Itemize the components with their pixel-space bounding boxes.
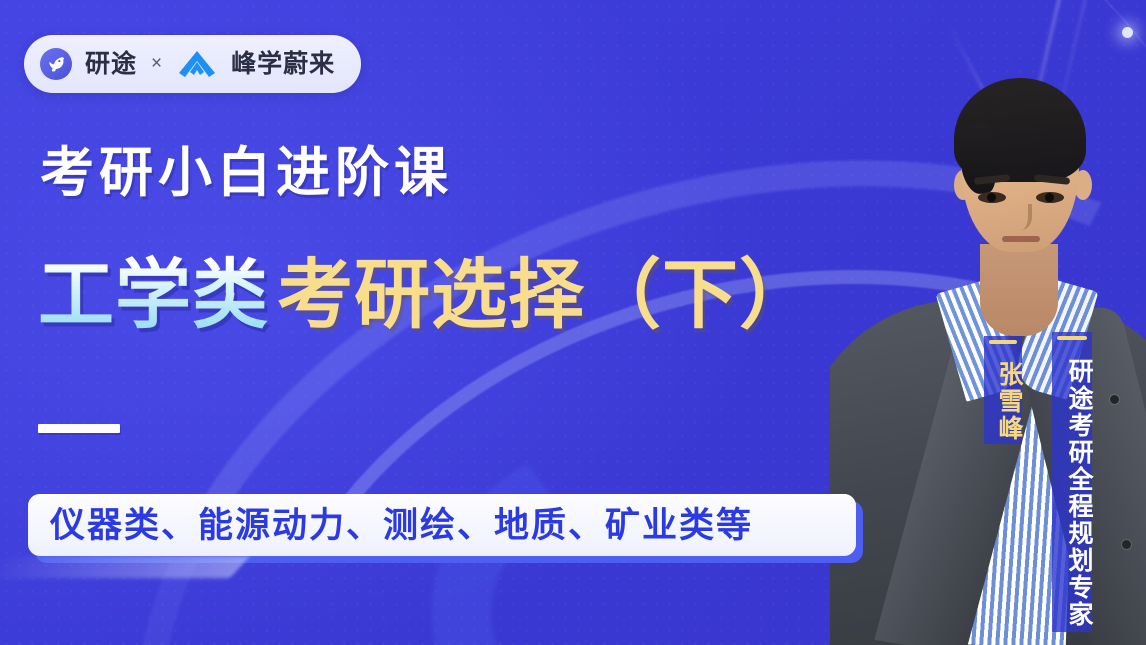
speaker-name-bar: 张雪峰 xyxy=(984,336,1022,444)
nose xyxy=(1010,204,1032,230)
main-headline: 工学类考研选择（下） xyxy=(38,258,816,334)
headline-part-2: 考研选择 xyxy=(277,253,585,338)
speaker-photo xyxy=(830,0,1146,645)
mountain-chevron-logo-icon xyxy=(176,49,218,79)
suit-button-1 xyxy=(1110,395,1119,404)
neck xyxy=(980,244,1058,336)
speaker-role: 研途考研全程规划专家 xyxy=(1066,358,1092,628)
brand-separator: × xyxy=(150,53,163,75)
hair xyxy=(954,78,1086,182)
brand-left-label: 研途 xyxy=(85,52,137,77)
unicorn-circle-logo-icon xyxy=(40,48,72,80)
divider-rule xyxy=(38,424,120,433)
bottom-light-wedge xyxy=(0,556,250,578)
course-poster: 张雪峰 研途考研全程规划专家 研途 × 峰学蔚来 考研小白进阶课 工学类考研选择… xyxy=(0,0,1146,645)
brand-right-label: 峰学蔚来 xyxy=(231,52,335,77)
brand-pill[interactable]: 研途 × 峰学蔚来 xyxy=(24,35,361,93)
headline-part-1: 工学类 xyxy=(38,253,277,338)
kicker-title: 考研小白进阶课 xyxy=(40,146,453,200)
accent-line-name xyxy=(989,340,1017,344)
speaker-name: 张雪峰 xyxy=(996,361,1022,442)
mouth xyxy=(1002,236,1040,242)
eye-right xyxy=(1036,192,1064,203)
speaker-role-bar: 研途考研全程规划专家 xyxy=(1052,332,1092,632)
suit-button-2 xyxy=(1122,540,1131,549)
topics-banner-wrap: 仪器类、能源动力、测绘、地质、矿业类等 xyxy=(28,494,856,556)
headline-part-3: （下） xyxy=(585,253,816,338)
eye-left xyxy=(978,192,1006,203)
accent-line-role xyxy=(1057,336,1087,340)
topics-banner: 仪器类、能源动力、测绘、地质、矿业类等 xyxy=(28,494,856,556)
topics-banner-text: 仪器类、能源动力、测绘、地质、矿业类等 xyxy=(50,508,753,543)
